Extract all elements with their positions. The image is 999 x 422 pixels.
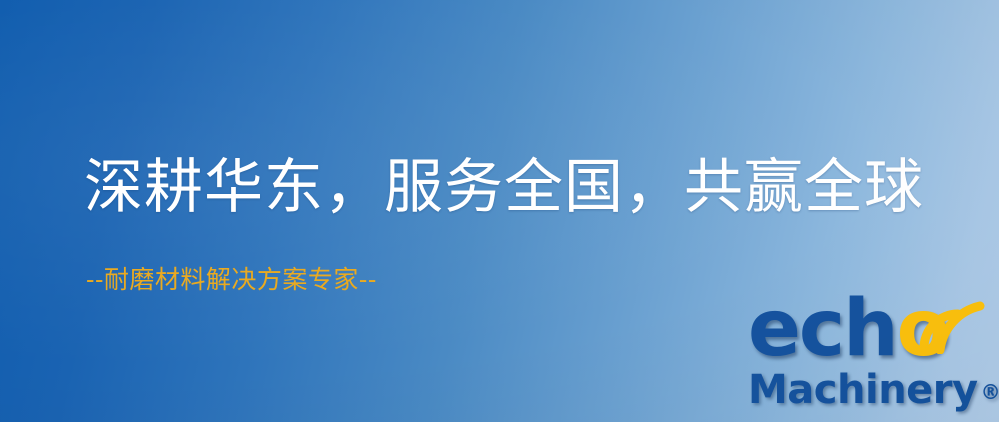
logo-text-ech: ech: [748, 284, 897, 374]
logo-tagline-text: Machinery: [748, 367, 978, 413]
logo-tagline: Machinery®: [748, 370, 999, 410]
banner-subtitle: --耐磨材料解决方案专家--: [86, 266, 377, 294]
registered-trademark-icon: ®: [981, 380, 999, 404]
banner-headline: 深耕华东，服务全国，共赢全球: [84, 157, 924, 216]
signal-arcs-icon: [918, 292, 986, 354]
logo-wordmark: echo: [746, 296, 994, 372]
promo-banner: 深耕华东，服务全国，共赢全球 --耐磨材料解决方案专家-- echo Machi…: [0, 0, 999, 422]
echo-machinery-logo: echo Machinery®: [746, 296, 994, 418]
